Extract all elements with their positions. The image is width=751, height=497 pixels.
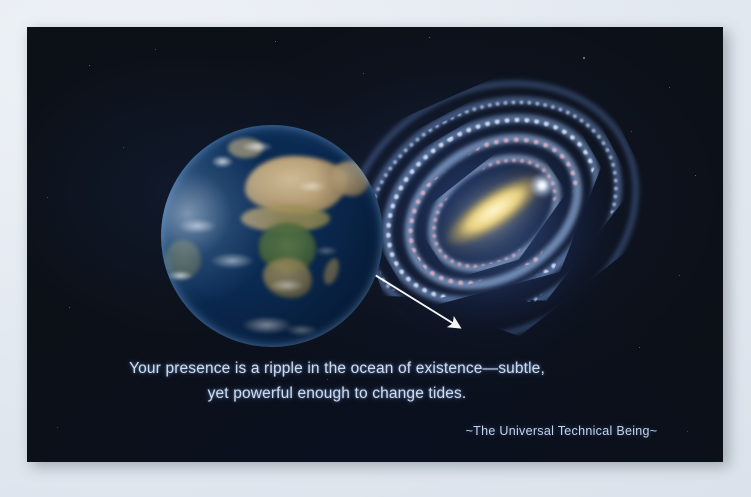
quote-text: Your presence is a ripple in the ocean o… — [27, 356, 647, 406]
attribution-text: ~The Universal Technical Being~ — [466, 424, 658, 438]
quote-line-1: Your presence is a ripple in the ocean o… — [27, 356, 647, 381]
quote-attribution: ~The Universal Technical Being~ — [27, 424, 696, 438]
earth-atmosphere-rim — [161, 125, 383, 347]
quote-line-2: yet powerful enough to change tides. — [27, 381, 647, 406]
earth-planet — [161, 125, 383, 347]
